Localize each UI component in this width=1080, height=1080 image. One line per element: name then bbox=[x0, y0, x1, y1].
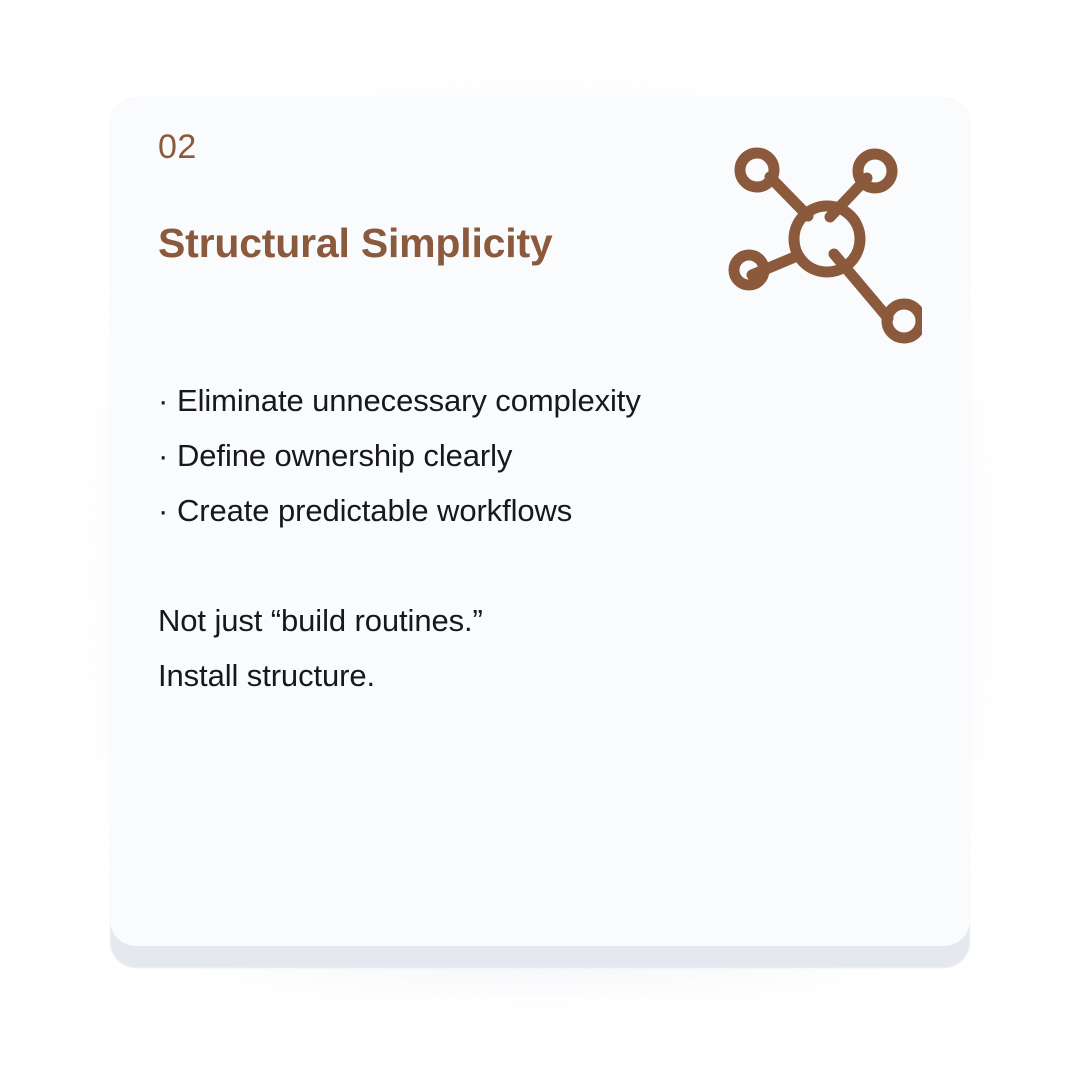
list-item-label: Create predictable workflows bbox=[177, 483, 572, 538]
card-number-label: 02 bbox=[158, 130, 197, 164]
page-title: Structural Simplicity bbox=[158, 223, 553, 264]
closing-line-secondary: Install structure. bbox=[158, 648, 483, 703]
bullet-marker-icon: · bbox=[158, 373, 177, 428]
list-item: · Define ownership clearly bbox=[158, 428, 641, 483]
list-item: · Eliminate unnecessary complexity bbox=[158, 373, 641, 428]
content-card: 02 Structural Simplicity · Eliminate unn… bbox=[110, 98, 970, 946]
closing-line-primary: Not just “build routines.” bbox=[158, 593, 483, 648]
bullet-list: · Eliminate unnecessary complexity · Def… bbox=[158, 373, 641, 538]
bullet-marker-icon: · bbox=[158, 483, 177, 538]
list-item: · Create predictable workflows bbox=[158, 483, 641, 538]
slide-canvas: 02 Structural Simplicity · Eliminate unn… bbox=[0, 0, 1080, 1080]
list-item-label: Eliminate unnecessary complexity bbox=[177, 373, 641, 428]
network-hub-icon bbox=[712, 134, 922, 344]
card-content: 02 Structural Simplicity · Eliminate unn… bbox=[158, 98, 970, 946]
bullet-marker-icon: · bbox=[158, 428, 177, 483]
closing-statement: Not just “build routines.” Install struc… bbox=[158, 593, 483, 703]
list-item-label: Define ownership clearly bbox=[177, 428, 512, 483]
